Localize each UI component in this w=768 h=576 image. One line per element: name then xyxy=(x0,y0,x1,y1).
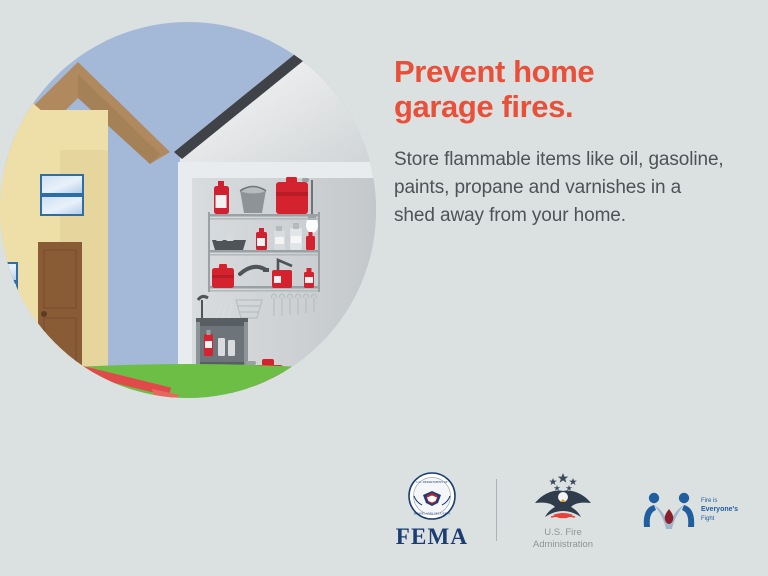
fief-line-2: Everyone's xyxy=(701,505,738,514)
house-window-upper xyxy=(40,174,84,216)
page-title: Prevent home garage fires. xyxy=(394,55,724,124)
fire-is-everyones-fight-emblem-icon xyxy=(641,489,697,531)
svg-text:U.S. DEPARTMENT OF: U.S. DEPARTMENT OF xyxy=(416,480,448,484)
usfa-eagle-emblem-icon xyxy=(511,469,615,525)
dhs-seal-icon: U.S. DEPARTMENT OF HOMELAND SECURITY xyxy=(380,471,484,521)
fief-logo-group: Fire is Everyone's Fight xyxy=(641,489,738,531)
fema-wordmark: FEMA xyxy=(396,524,469,550)
logo-bar: U.S. DEPARTMENT OF HOMELAND SECURITY FEM… xyxy=(380,466,760,554)
door-knob xyxy=(41,311,47,317)
house-door xyxy=(38,242,82,392)
usfa-wordmark-line-1: U.S. Fire xyxy=(533,527,593,539)
fema-logo-group: U.S. DEPARTMENT OF HOMELAND SECURITY FEM… xyxy=(380,471,484,550)
text-block: Prevent home garage fires. Store flammab… xyxy=(394,55,724,229)
metal-bucket xyxy=(240,187,266,214)
svg-text:HOMELAND SECURITY: HOMELAND SECURITY xyxy=(414,511,451,515)
headline-line-2: garage fires. xyxy=(394,89,573,124)
usfa-logo-group: U.S. Fire Administration xyxy=(511,469,615,551)
gas-can xyxy=(276,177,309,214)
fief-line-3: Fight xyxy=(701,515,738,523)
usfa-wordmark-line-2: Administration xyxy=(533,539,593,551)
garage-left-pillar xyxy=(178,162,192,392)
fief-line-1: Fire is xyxy=(701,497,738,505)
body-copy: Store flammable items like oil, gasoline… xyxy=(394,146,724,229)
grass xyxy=(0,364,376,398)
fief-wordmark: Fire is Everyone's Fight xyxy=(701,497,738,523)
headline-line-1: Prevent home xyxy=(394,54,594,89)
poster-canvas: Prevent home garage fires. Store flammab… xyxy=(0,0,768,576)
illustration-circle-group xyxy=(0,22,376,398)
logo-divider xyxy=(496,479,497,541)
garage-fire-illustration xyxy=(0,22,376,398)
garage-facade xyxy=(178,162,376,178)
usfa-wordmark: U.S. Fire Administration xyxy=(533,527,593,551)
